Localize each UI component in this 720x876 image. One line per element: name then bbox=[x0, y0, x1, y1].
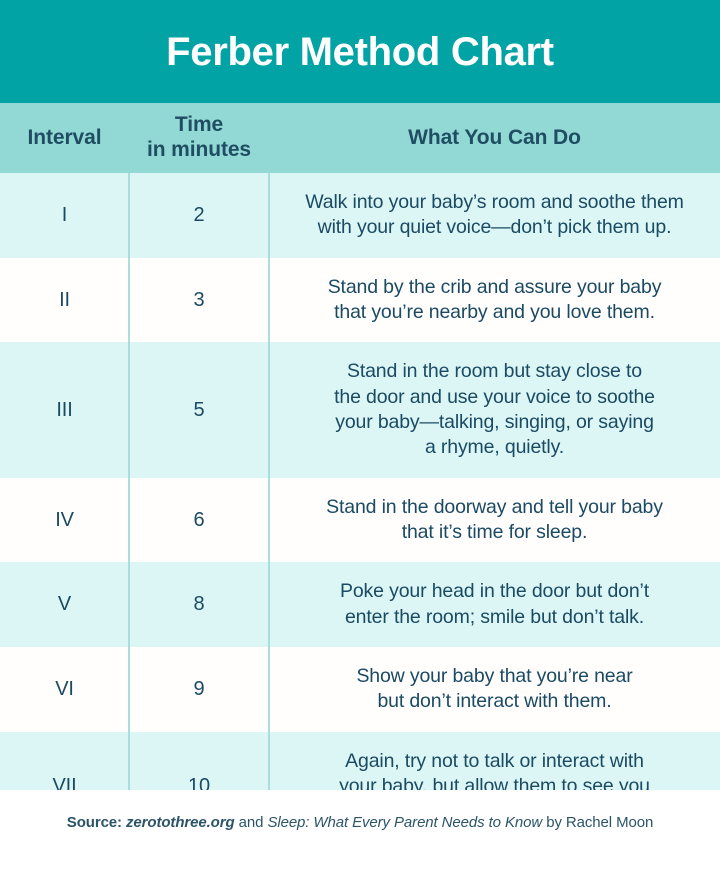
cell-time: 8 bbox=[129, 562, 269, 647]
source-author: by Rachel Moon bbox=[546, 814, 653, 831]
source-label: Source: bbox=[67, 814, 122, 831]
column-header-interval: Interval bbox=[0, 103, 129, 173]
cell-interval: VI bbox=[0, 647, 129, 732]
ferber-method-chart-card: Ferber Method Chart Interval Time in min… bbox=[0, 0, 720, 876]
cell-text-line: Poke your head in the door but don’t bbox=[281, 579, 708, 604]
column-header-what-you-can-do: What You Can Do bbox=[269, 103, 720, 173]
cell-text-line: enter the room; smile but don’t talk. bbox=[281, 605, 708, 630]
cell-interval: IV bbox=[0, 478, 129, 563]
cell-text-line: your baby—talking, singing, or saying bbox=[281, 410, 708, 435]
page-title: Ferber Method Chart bbox=[166, 32, 554, 72]
footer: Source: zerotothree.org and Sleep: What … bbox=[0, 790, 720, 876]
ferber-table: Interval Time in minutes What You Can Do… bbox=[0, 103, 720, 790]
cell-text-line: that it’s time for sleep. bbox=[281, 520, 708, 545]
cell-what-you-can-do: Show your baby that you’re near but don’… bbox=[269, 647, 720, 732]
cell-interval: I bbox=[0, 173, 129, 258]
cell-what-you-can-do: Poke your head in the door but don’t ent… bbox=[269, 562, 720, 647]
cell-text-line: that you’re nearby and you love them. bbox=[281, 300, 708, 325]
cell-time: 10 bbox=[129, 732, 269, 790]
table-row: IV 6 Stand in the doorway and tell your … bbox=[0, 478, 720, 563]
cell-what-you-can-do: Again, try not to talk or interact with … bbox=[269, 732, 720, 790]
cell-text-line: Stand in the room but stay close to bbox=[281, 359, 708, 384]
table-header: Interval Time in minutes What You Can Do bbox=[0, 103, 720, 173]
cell-time: 5 bbox=[129, 342, 269, 477]
column-header-what-line-1: What You Can Do bbox=[269, 126, 720, 151]
cell-text-line: Again, try not to talk or interact with bbox=[281, 749, 708, 774]
table-row: I 2 Walk into your baby’s room and sooth… bbox=[0, 173, 720, 258]
cell-text-line: a rhyme, quietly. bbox=[281, 435, 708, 460]
table-row: II 3 Stand by the crib and assure your b… bbox=[0, 258, 720, 343]
table-body: I 2 Walk into your baby’s room and sooth… bbox=[0, 173, 720, 790]
source-attribution: Source: zerotothree.org and Sleep: What … bbox=[67, 814, 653, 831]
table-row: III 5 Stand in the room but stay close t… bbox=[0, 342, 720, 477]
cell-interval: II bbox=[0, 258, 129, 343]
cell-text-line: Stand in the doorway and tell your baby bbox=[281, 495, 708, 520]
cell-what-you-can-do: Walk into your baby’s room and soothe th… bbox=[269, 173, 720, 258]
cell-interval: III bbox=[0, 342, 129, 477]
table-row: VI 9 Show your baby that you’re near but… bbox=[0, 647, 720, 732]
source-website: zerotothree.org bbox=[126, 814, 235, 831]
table-row: VII 10 Again, try not to talk or interac… bbox=[0, 732, 720, 790]
column-header-time: Time in minutes bbox=[129, 103, 269, 173]
cell-time: 2 bbox=[129, 173, 269, 258]
cell-text-line: Stand by the crib and assure your baby bbox=[281, 275, 708, 300]
table-row: V 8 Poke your head in the door but don’t… bbox=[0, 562, 720, 647]
column-header-time-line-2: in minutes bbox=[129, 138, 269, 163]
source-book-title: Sleep: What Every Parent Needs to Know bbox=[267, 814, 542, 831]
cell-what-you-can-do: Stand by the crib and assure your baby t… bbox=[269, 258, 720, 343]
cell-time: 3 bbox=[129, 258, 269, 343]
title-bar: Ferber Method Chart bbox=[0, 0, 720, 103]
column-header-time-line-1: Time bbox=[129, 113, 269, 138]
table-header-row: Interval Time in minutes What You Can Do bbox=[0, 103, 720, 173]
cell-text-line: with your quiet voice—don’t pick them up… bbox=[281, 215, 708, 240]
cell-what-you-can-do: Stand in the doorway and tell your baby … bbox=[269, 478, 720, 563]
source-conjunction: and bbox=[239, 814, 264, 831]
column-header-interval-line-1: Interval bbox=[0, 126, 129, 151]
cell-text-line: Walk into your baby’s room and soothe th… bbox=[281, 190, 708, 215]
cell-text-line: your baby, but allow them to see you bbox=[281, 774, 708, 790]
cell-time: 9 bbox=[129, 647, 269, 732]
cell-what-you-can-do: Stand in the room but stay close to the … bbox=[269, 342, 720, 477]
cell-text-line: Show your baby that you’re near bbox=[281, 664, 708, 689]
cell-text-line: the door and use your voice to soothe bbox=[281, 385, 708, 410]
cell-interval: VII bbox=[0, 732, 129, 790]
table-container: Interval Time in minutes What You Can Do… bbox=[0, 103, 720, 790]
cell-time: 6 bbox=[129, 478, 269, 563]
cell-text-line: but don’t interact with them. bbox=[281, 689, 708, 714]
cell-interval: V bbox=[0, 562, 129, 647]
